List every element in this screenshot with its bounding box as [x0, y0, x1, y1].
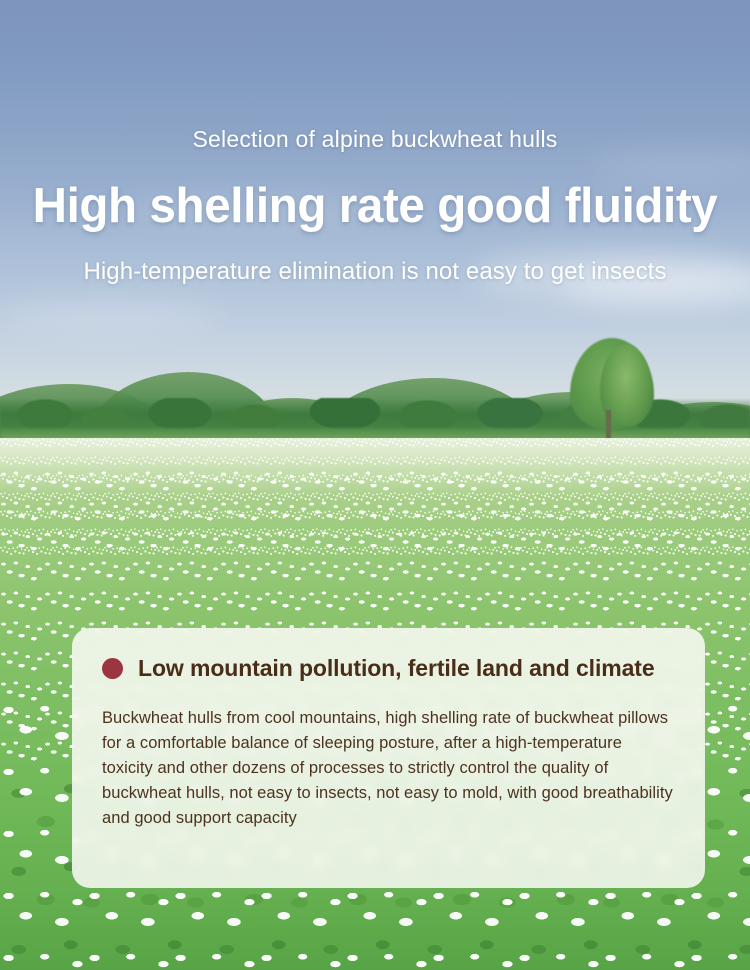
hero-eyebrow: Selection of alpine buckwheat hulls: [0, 0, 750, 154]
hero-title: High shelling rate good fluidity: [11, 154, 739, 235]
filled-circle-bullet-icon: [102, 658, 123, 679]
tree-trunk: [606, 410, 611, 440]
hero-text-block: Selection of alpine buckwheat hulls High…: [0, 0, 750, 288]
info-card-heading-row: Low mountain pollution, fertile land and…: [102, 654, 675, 682]
info-card: Low mountain pollution, fertile land and…: [72, 628, 705, 888]
info-card-heading: Low mountain pollution, fertile land and…: [138, 654, 655, 682]
hero-subtitle: High-temperature elimination is not easy…: [0, 235, 750, 288]
cloud-wisp: [0, 300, 220, 334]
tall-tree: [566, 338, 658, 440]
promo-banner-page: Selection of alpine buckwheat hulls High…: [0, 0, 750, 970]
info-card-paragraph: Buckwheat hulls from cool mountains, hig…: [102, 706, 675, 831]
field-horizon-haze: [0, 438, 750, 498]
